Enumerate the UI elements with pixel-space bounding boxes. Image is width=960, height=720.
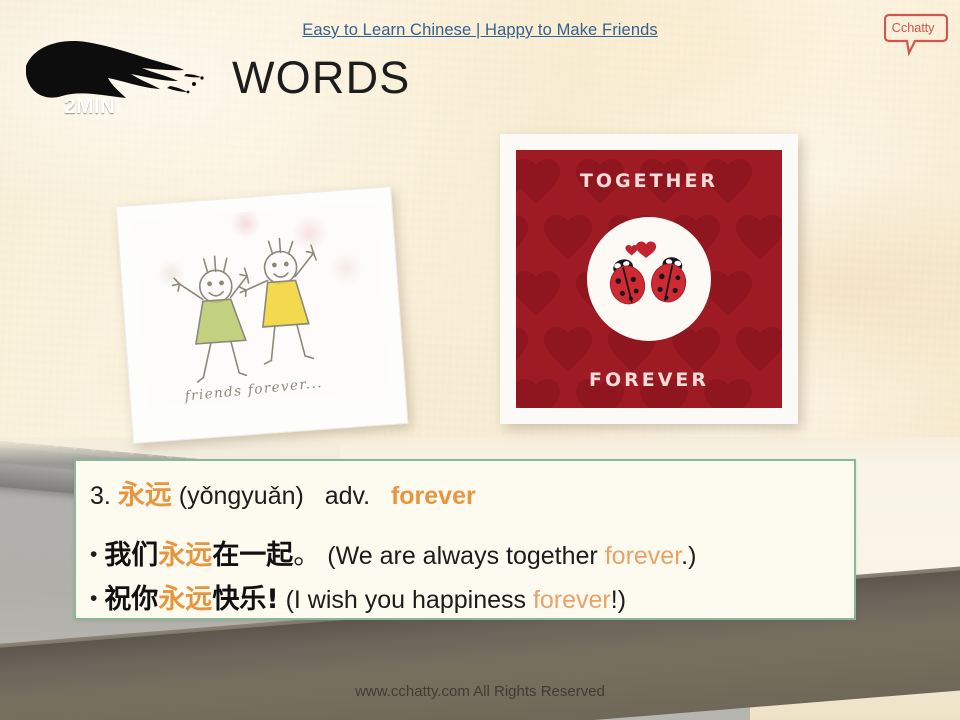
card-bottom-word: FOREVER xyxy=(516,369,782,391)
vocab-pinyin: (yǒngyuǎn) xyxy=(179,482,304,510)
footer-copyright: www.cchatty.com All Rights Reserved xyxy=(0,683,960,700)
example-2-en-post: !) xyxy=(611,586,626,614)
ladybugs-icon xyxy=(587,217,711,341)
example-sentence-1: • 我们永远在一起。 (We are always together forev… xyxy=(90,533,696,572)
example-1-cn-post: 在一起 xyxy=(212,540,293,571)
brush-stroke-icon xyxy=(20,36,212,108)
card-face: TOGETHER xyxy=(516,150,782,408)
logo-label: Cchatty xyxy=(884,10,942,44)
bullet-1: • xyxy=(90,543,97,566)
cchatty-logo[interactable]: Cchatty xyxy=(884,10,948,56)
vocab-hanzi: 永远 xyxy=(118,480,172,511)
example-1-cn-punct: 。 xyxy=(293,540,320,571)
friends-forever-artwork xyxy=(134,202,389,407)
vocab-meaning: forever xyxy=(391,482,476,510)
stick-figure-girls-icon xyxy=(134,202,389,407)
example-1-en-key: forever xyxy=(605,542,681,570)
example-2-cn-pre: 祝你 xyxy=(104,584,158,615)
card-top-word: TOGETHER xyxy=(516,170,782,192)
duration-badge-label: 2MIN xyxy=(64,95,115,119)
together-forever-card: TOGETHER xyxy=(500,134,798,424)
slide-canvas: Easy to Learn Chinese | Happy to Make Fr… xyxy=(0,0,960,720)
ladybug-disc xyxy=(587,217,711,341)
bullet-2: • xyxy=(90,587,97,610)
example-2-en-pre: (I wish you happiness xyxy=(286,586,533,614)
example-2-en-key: forever xyxy=(533,586,611,614)
example-1-cn-pre: 我们 xyxy=(104,540,158,571)
page-title: WORDS xyxy=(232,52,411,104)
example-1-en-pre: (We are always together xyxy=(327,542,604,570)
vocabulary-box: 3. 永远 (yǒngyuǎn) adv. forever • 我们永远在一起。… xyxy=(74,459,856,620)
example-sentence-2: • 祝你永远快乐! (I wish you happiness forever!… xyxy=(90,577,626,616)
vocab-part-of-speech: adv. xyxy=(325,482,370,510)
example-2-cn-key: 永远 xyxy=(158,584,212,615)
friends-forever-photo: friends forever... xyxy=(116,186,409,444)
example-1-cn-key: 永远 xyxy=(158,540,212,571)
example-2-cn-punct: ! xyxy=(266,584,278,615)
duration-badge: 2MIN xyxy=(20,36,212,108)
example-1-en-post: .) xyxy=(681,542,696,570)
vocab-entry-heading: 3. 永远 (yǒngyuǎn) adv. forever xyxy=(90,473,476,512)
vocab-number: 3. xyxy=(90,482,111,510)
example-2-cn-post: 快乐 xyxy=(212,584,266,615)
